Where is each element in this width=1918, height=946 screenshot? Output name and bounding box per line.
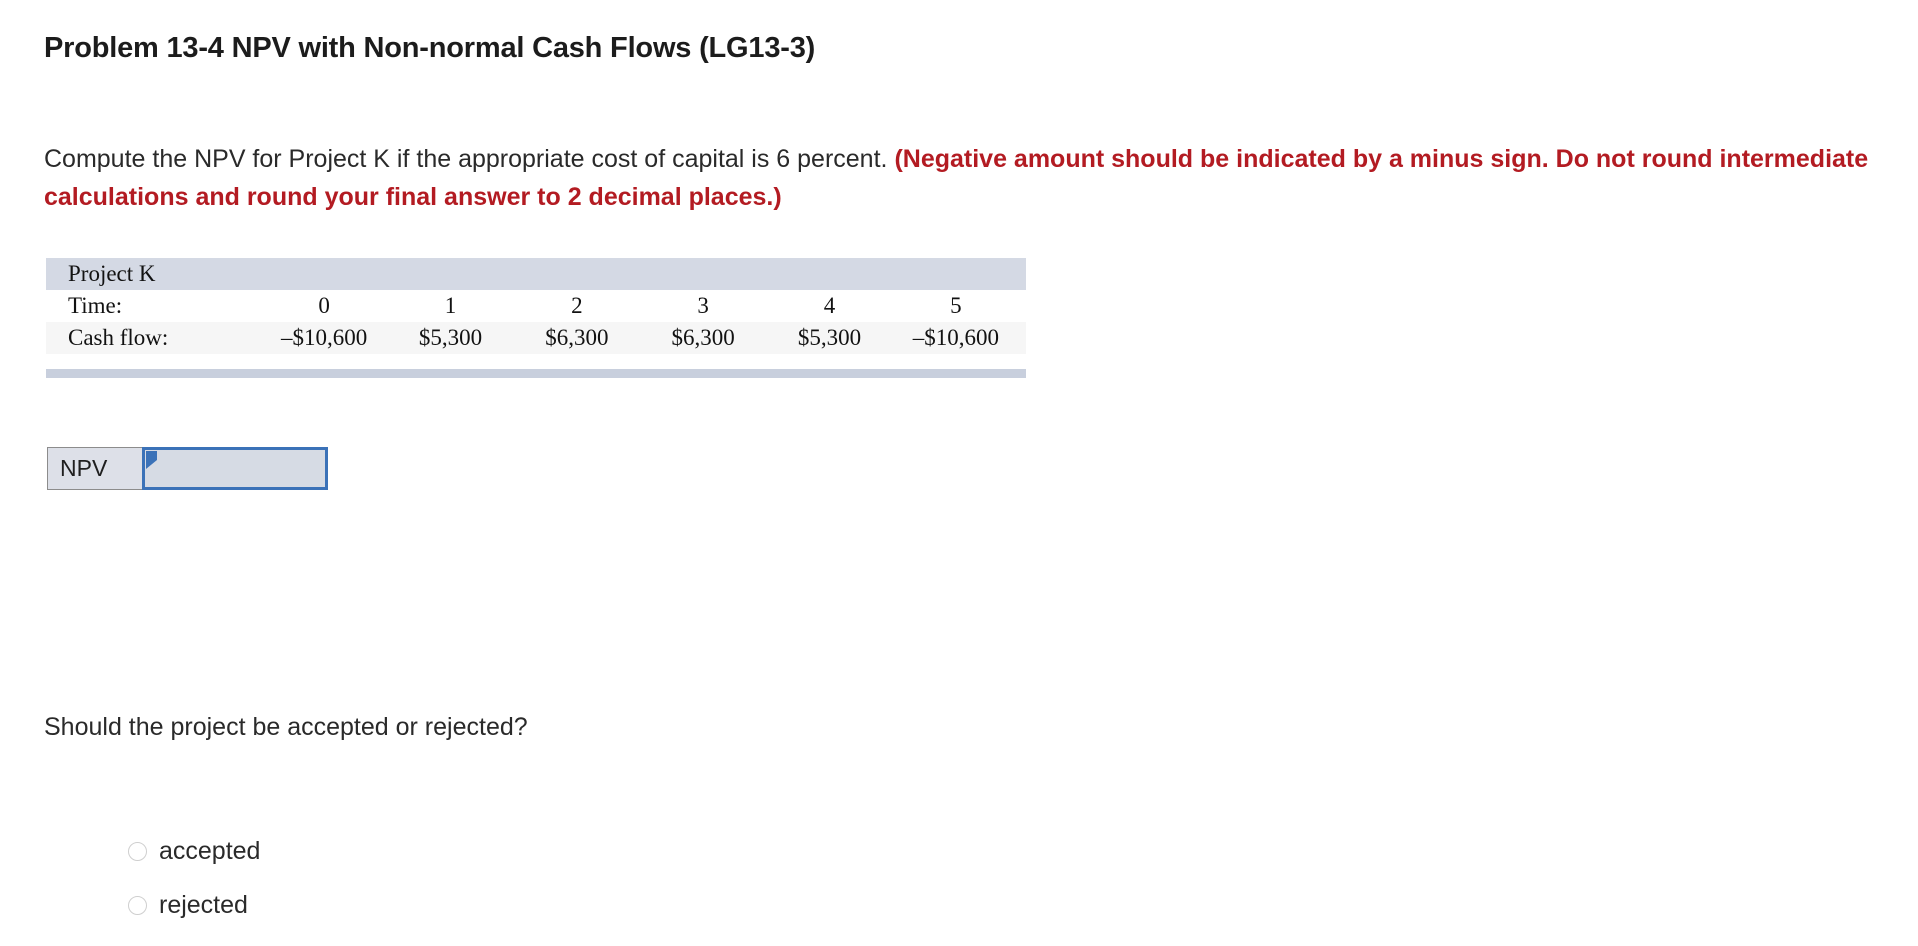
- header-spacer-cell-2: [521, 258, 647, 290]
- table-row-time: Time: 0 1 2 3 4 5: [46, 290, 1026, 322]
- question-prompt: Compute the NPV for Project K if the app…: [44, 140, 1874, 216]
- time-cell-5: 5: [900, 290, 1026, 322]
- npv-input[interactable]: [142, 447, 328, 490]
- radio-label-rejected: rejected: [159, 891, 248, 920]
- table-row-header: Project K: [46, 258, 1026, 290]
- time-cell-4: 4: [773, 290, 899, 322]
- radio-label-accepted: accepted: [159, 837, 260, 866]
- table-footer-bar: [46, 369, 1026, 378]
- radio-button-icon-accepted[interactable]: [128, 842, 147, 861]
- prompt-plain-text: Compute the NPV for Project K if the app…: [44, 145, 894, 173]
- decision-radio-group: accepted rejected: [128, 824, 260, 932]
- project-title-cell: Project K: [46, 258, 268, 290]
- time-cell-1: 1: [394, 290, 520, 322]
- project-cash-flow-table: Project K Time: 0 1 2 3 4 5 Cash flow: –…: [46, 258, 1026, 354]
- header-spacer-cell-0: [268, 258, 394, 290]
- cash-flow-row-label: Cash flow:: [46, 322, 268, 354]
- header-spacer-cell-4: [773, 258, 899, 290]
- page-title: Problem 13-4 NPV with Non-normal Cash Fl…: [44, 32, 815, 65]
- npv-answer-row: NPV: [47, 447, 328, 490]
- time-cell-0: 0: [268, 290, 394, 322]
- cash-flow-cell-0: –$10,600: [268, 322, 394, 354]
- header-spacer-cell-1: [394, 258, 520, 290]
- cash-flow-cell-3: $6,300: [647, 322, 773, 354]
- radio-option-accepted[interactable]: accepted: [128, 824, 260, 878]
- header-spacer-cell-5: [900, 258, 1026, 290]
- cash-flow-cell-5: –$10,600: [900, 322, 1026, 354]
- npv-input-wrapper: [142, 447, 328, 490]
- radio-option-rejected[interactable]: rejected: [128, 878, 260, 932]
- cash-flow-cell-4: $5,300: [773, 322, 899, 354]
- npv-label: NPV: [47, 447, 143, 490]
- table-row-cash-flow: Cash flow: –$10,600 $5,300 $6,300 $6,300…: [46, 322, 1026, 354]
- cash-flow-cell-1: $5,300: [394, 322, 520, 354]
- time-cell-3: 3: [647, 290, 773, 322]
- cash-flow-cell-2: $6,300: [521, 322, 647, 354]
- radio-button-icon-rejected[interactable]: [128, 896, 147, 915]
- time-row-label: Time:: [46, 290, 268, 322]
- header-spacer-cell-3: [647, 258, 773, 290]
- time-cell-2: 2: [521, 290, 647, 322]
- decision-question: Should the project be accepted or reject…: [44, 713, 528, 742]
